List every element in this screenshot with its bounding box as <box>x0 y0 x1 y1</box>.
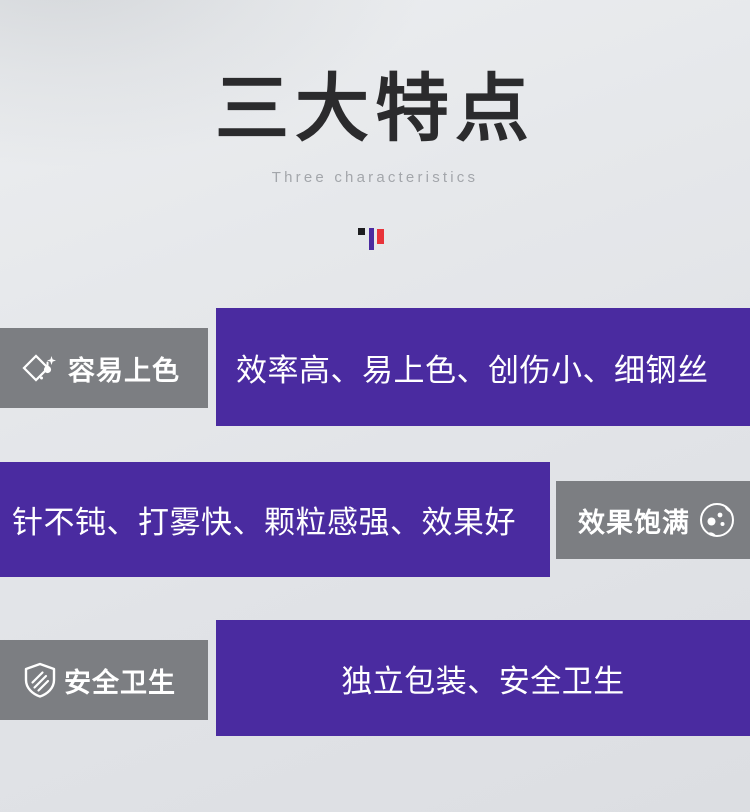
page-title: 三大特点 <box>0 0 750 147</box>
tricolor-mark-icon <box>358 228 392 250</box>
feature-panel-full-effect: 针不钝、打雾快、颗粒感强、效果好 <box>0 462 550 577</box>
feature-chip-label: 安全卫生 <box>64 661 176 700</box>
particle-circle-icon <box>698 501 736 539</box>
feature-row: 针不钝、打雾快、颗粒感强、效果好 效果饱满 <box>0 462 750 578</box>
feature-row: 容易上色 效率高、易上色、创伤小、细钢丝 <box>0 308 750 428</box>
tricolor-mark-black-square <box>358 228 365 235</box>
feature-panel-text: 独立包装、安全卫生 <box>341 656 625 701</box>
feature-chip-full-effect[interactable]: 效果饱满 <box>556 481 750 559</box>
feature-panel-text: 针不钝、打雾快、颗粒感强、效果好 <box>12 497 516 542</box>
feature-panel-text: 效率高、易上色、创伤小、细钢丝 <box>236 345 709 390</box>
feature-row: 安全卫生 独立包装、安全卫生 <box>0 620 750 738</box>
feature-panel-safe-hygienic: 独立包装、安全卫生 <box>216 620 750 736</box>
feature-chip-easy-coloring[interactable]: 容易上色 <box>0 328 208 408</box>
shield-icon <box>22 661 58 699</box>
paint-diamond-icon <box>22 348 62 388</box>
feature-highlight-page: 三大特点 Three characteristics 容易上色 效率高、易上色、… <box>0 0 750 812</box>
feature-chip-label: 容易上色 <box>68 349 180 388</box>
page-header: 三大特点 Three characteristics <box>0 0 750 186</box>
page-subtitle: Three characteristics <box>0 147 750 186</box>
feature-panel-easy-coloring: 效率高、易上色、创伤小、细钢丝 <box>216 308 750 426</box>
feature-chip-label: 效果饱满 <box>578 501 690 540</box>
feature-chip-safe-hygienic[interactable]: 安全卫生 <box>0 640 208 720</box>
tricolor-mark-purple-bar <box>369 228 374 250</box>
tricolor-mark-red-bar <box>377 229 384 244</box>
